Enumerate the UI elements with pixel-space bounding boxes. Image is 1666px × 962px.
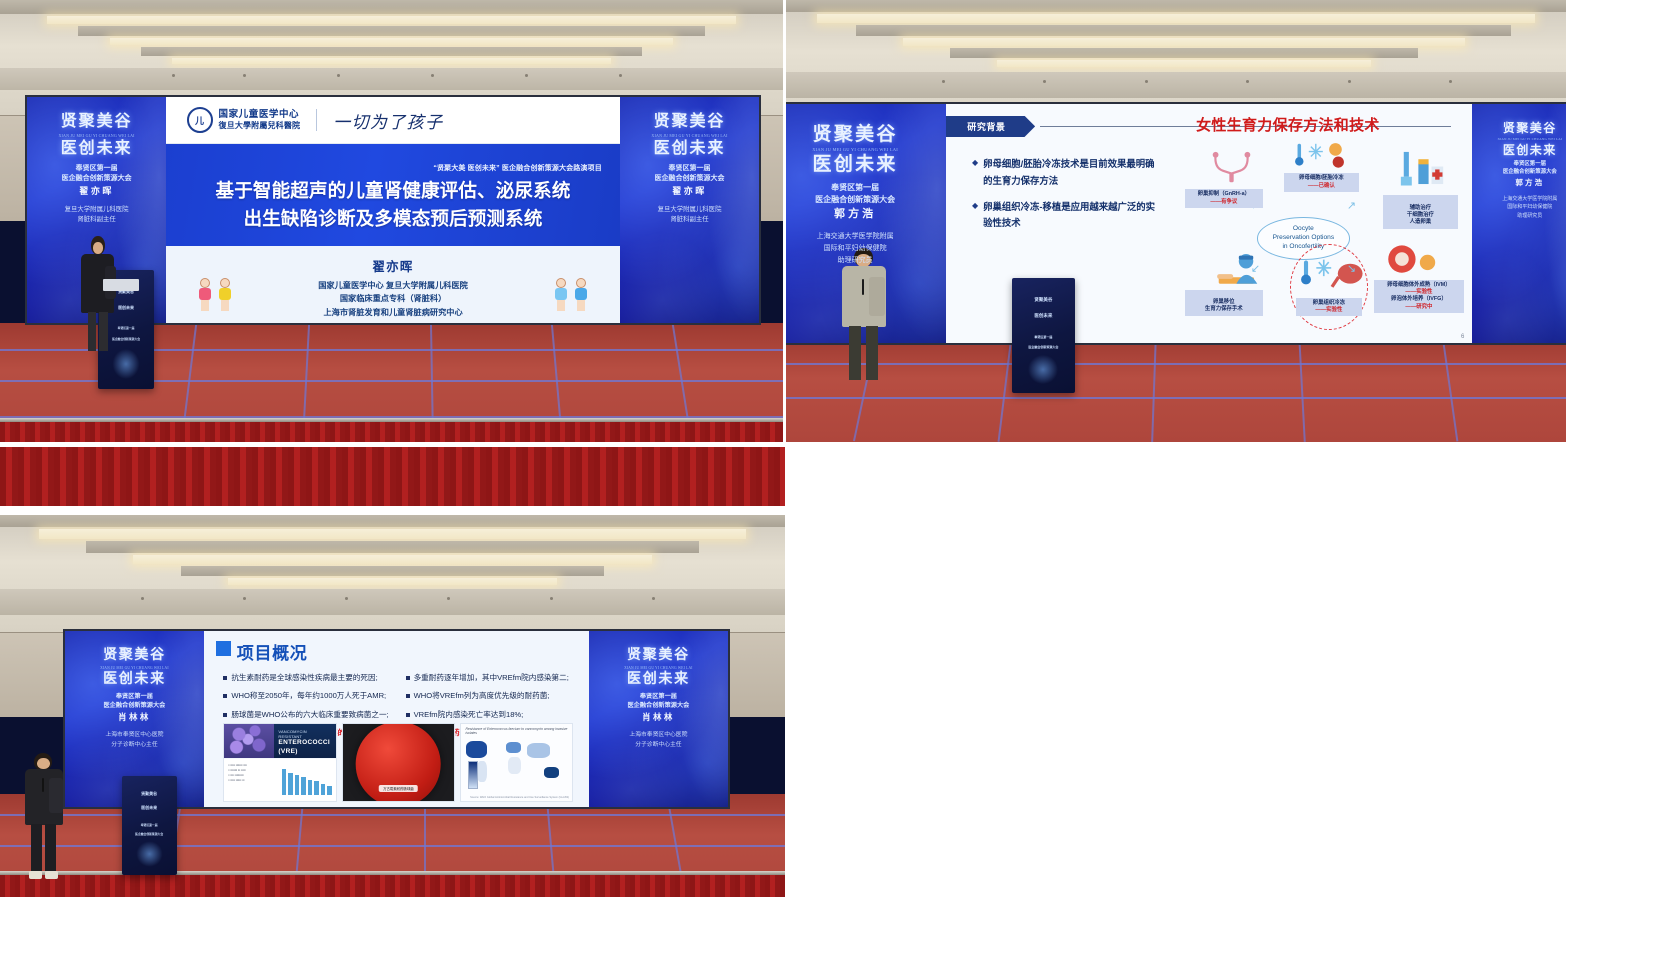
speaker-org-2a: 上海交通大学医学院附属 bbox=[786, 231, 946, 243]
speaker-name-2: 郭方浩 bbox=[786, 205, 946, 221]
laptop-1 bbox=[103, 279, 139, 290]
assisted-therapy-icon bbox=[1389, 149, 1455, 189]
agar-plate-caption: 万古霉素耐药肠球菌 bbox=[379, 785, 418, 792]
node-label-5: 卵母细胞体外成熟（IVM） ——实验性 卵泡体外培养（IVFG） ——研究中 bbox=[1374, 280, 1464, 313]
banner-small-text: VANCOMYCIN RESISTANT bbox=[278, 729, 331, 739]
event-subtitle-2-p2: 医企融合创新策源大会 bbox=[786, 194, 946, 206]
event-subtitle-1-right: 奉贤区第一届 bbox=[620, 163, 759, 173]
speaker-title-1-right: 肾脏科副主任 bbox=[620, 215, 759, 226]
logo-line-1: 国家儿童医学中心 bbox=[219, 109, 301, 121]
list-item: 肠球菌是WHO公布的六大临床重要致病菌之一; bbox=[223, 709, 395, 720]
node-label-4: 卵巢组织冷冻 ——实验性 bbox=[1296, 298, 1362, 317]
square-bullet-icon bbox=[406, 713, 410, 717]
world-map bbox=[464, 735, 569, 791]
ceiling-3 bbox=[0, 515, 785, 632]
diamond-bullet-icon: ◆ bbox=[972, 199, 978, 232]
speaker-name-3: 肖林林 bbox=[65, 711, 204, 723]
brand-line-2-p3r: 医创未来 bbox=[589, 673, 728, 688]
event-subtitle-1-p3: 奉贤区第一届 bbox=[65, 693, 204, 702]
speaker-name-3-right: 肖林林 bbox=[589, 711, 728, 723]
highlight-ring bbox=[1290, 244, 1368, 330]
node-label-1: 卵母细胞/胚胎冷冻 ——已确认 bbox=[1284, 173, 1359, 192]
brand-pinyin-p3r: XIAN JU MEI GU YI CHUANG WEI LAI bbox=[589, 666, 728, 670]
ivm-icon bbox=[1383, 242, 1443, 276]
event-subtitle-1: 奉贤区第一届 bbox=[27, 163, 166, 173]
hospital-slogan: 一切为了孩子 bbox=[333, 108, 443, 133]
event-subtitle-2-p2r: 医企融合创新策源大会 bbox=[1472, 169, 1566, 177]
slide-1-affiliation-1: 国家儿童医学中心 复旦大学附属儿科医院 bbox=[166, 279, 620, 292]
slide-3-title: 项目概况 bbox=[237, 639, 308, 664]
speaker-org-1-right: 复旦大学附属儿科医院 bbox=[620, 205, 759, 216]
brand-pinyin-right: XIAN JU MEI GU YI CHUANG WEI LAI bbox=[620, 133, 759, 138]
brand-pinyin: XIAN JU MEI GU YI CHUANG WEI LAI bbox=[27, 133, 166, 138]
event-subtitle-2-p3r: 医企融合创新策源大会 bbox=[589, 702, 728, 711]
brand-line-2-right: 医创未来 bbox=[620, 141, 759, 158]
square-bullet-icon bbox=[223, 713, 227, 717]
fact-sheet-body-text: ▪ ▪▪▪▪ ▪▪▪▪▪▪ ▪▪▪▪ ▪▪▪▪▪▪ ▪▪ ▪▪▪▪▪ ▪▪▪ ▪… bbox=[224, 759, 277, 801]
speaker-org-3: 上海市奉贤区中心医院 bbox=[65, 731, 204, 741]
speaker-title-3-right: 分子诊断中心主任 bbox=[589, 741, 728, 751]
uterus-icon bbox=[1206, 149, 1257, 185]
podium-sub-1-p2: 奉贤区第一届 bbox=[1012, 335, 1074, 339]
list-item: 多重耐药逐年增加，其中VREfm院内感染第二; bbox=[406, 672, 578, 683]
bullet-text: 卵母细胞/胚胎冷冻技术是目前效果最明确的生育力保存方法 bbox=[983, 156, 1161, 189]
podium-sub-1-p3: 奉贤区第一届 bbox=[122, 824, 177, 828]
bullet-text: 多重耐药逐年增加，其中VREfm院内感染第二; bbox=[414, 672, 569, 683]
microphone-icon-3 bbox=[42, 778, 45, 792]
figure-agar-plate: 万古霉素耐药肠球菌 bbox=[342, 723, 455, 802]
list-item: WHO称至2050年，每年约1000万人死于AMR; bbox=[223, 690, 395, 701]
podium-brand-2-p3: 医创未来 bbox=[122, 805, 177, 811]
brand-line-2: 医创未来 bbox=[27, 141, 166, 158]
podium-brand-1-p2: 贤聚美谷 bbox=[1012, 297, 1074, 303]
photo-presentation-pediatric-kidney: 贤聚美谷 XIAN JU MEI GU YI CHUANG WEI LAI 医创… bbox=[0, 0, 783, 442]
side-banner-right-1: 贤聚美谷 XIAN JU MEI GU YI CHUANG WEI LAI 医创… bbox=[620, 97, 759, 323]
event-subtitle-1-p2r: 奉贤区第一届 bbox=[1472, 161, 1566, 169]
bullet-text: 卵巢组织冷冻-移植是应用越来越广泛的实验性技术 bbox=[983, 199, 1161, 232]
square-bullet-icon bbox=[406, 694, 410, 698]
brand-pinyin-p2: XIAN JU MEI GU YI CHUANG WEI LAI bbox=[786, 147, 946, 152]
event-subtitle-2: 医企融合创新策源大会 bbox=[27, 173, 166, 183]
slide-2-title: 女性生育力保存方法和技术 bbox=[1125, 114, 1451, 135]
photo-presentation-vre-project-overview: 贤聚美谷 XIAN JU MEI GU YI CHUANG WEI LAI 医创… bbox=[0, 447, 785, 897]
map-legend bbox=[468, 761, 478, 789]
slide-1-title-line-2: 出生缺陷诊断及多模态预后预测系统 bbox=[184, 206, 602, 232]
speaker-org-2b-right: 国际和平妇幼保健院 bbox=[1472, 204, 1566, 213]
arrow-icon: ↙ bbox=[1251, 262, 1260, 275]
slide-2-section-tag: 研究背景 bbox=[946, 116, 1036, 138]
photo-gap bbox=[0, 506, 785, 515]
side-banner-right-2: 贤聚美谷 XIAN JU MEI GU YI CHUANG WEI LAI 医创… bbox=[1472, 104, 1566, 343]
event-subtitle-1-p3r: 奉贤区第一届 bbox=[589, 693, 728, 702]
speaker-org-3-right: 上海市奉贤区中心医院 bbox=[589, 731, 728, 741]
list-item: ◆ 卵母细胞/胚胎冷冻技术是目前效果最明确的生育力保存方法 bbox=[972, 156, 1162, 189]
speaker-title-3: 分子诊断中心主任 bbox=[65, 741, 204, 751]
brand-line-1-p3r: 贤聚美谷 bbox=[589, 649, 728, 664]
kid-illustration-right-icon bbox=[554, 272, 588, 312]
slide-1-footer: 翟亦晖 国家儿童医学中心 复旦大学附属儿科医院 国家临床重点专科（肾脏科） 上海… bbox=[166, 246, 620, 323]
speaker-title-2-right: 助理研究员 bbox=[1472, 213, 1566, 222]
speaker-name-1: 翟亦晖 bbox=[27, 184, 166, 197]
photo-collage: 贤聚美谷 XIAN JU MEI GU YI CHUANG WEI LAI 医创… bbox=[0, 0, 1666, 962]
conference-hall-scene-2: 贤聚美谷 XIAN JU MEI GU YI CHUANG WEI LAI 医创… bbox=[786, 0, 1566, 442]
slide-3: 项目概况 抗生素耐药是全球感染性疾病最主要的死因; WHO称至2050年，每年约… bbox=[204, 631, 589, 807]
empty-grid-cell bbox=[786, 447, 1666, 962]
arrow-icon: ↗ bbox=[1347, 199, 1356, 212]
brand-pinyin-p2r: XIAN JU MEI GU YI CHUANG WEI LAI bbox=[1472, 137, 1566, 141]
speaker-person-2 bbox=[841, 248, 888, 381]
node-label-2: 辅助治疗 干细胞治疗 人造卵巢 bbox=[1383, 195, 1458, 228]
podium-sub-2-p3: 医企融合创新策源大会 bbox=[122, 833, 177, 837]
speaker-person-3 bbox=[22, 753, 65, 879]
logo-line-2: 復旦大學附屬兒科醫院 bbox=[219, 121, 301, 131]
brand-line-2-p2: 医创未来 bbox=[786, 155, 946, 175]
arrow-icon: ↘ bbox=[1347, 262, 1356, 275]
slide-1-affiliation-2: 国家临床重点专科（肾脏科） bbox=[166, 292, 620, 305]
podium-2: 贤聚美谷 医创未来 奉贤区第一届 医企融合创新策源大会 bbox=[1012, 278, 1074, 393]
center-line-1: Oocyte bbox=[1273, 225, 1335, 234]
stage-floor-2 bbox=[786, 336, 1566, 442]
square-bullet-icon bbox=[223, 676, 227, 680]
speaker-org-1: 复旦大学附属儿科医院 bbox=[27, 205, 166, 216]
bullet-text: 抗生素耐药是全球感染性疾病最主要的死因; bbox=[231, 672, 377, 683]
brand-line-1-p2: 贤聚美谷 bbox=[786, 125, 946, 145]
hospital-logo-icon: 儿 bbox=[187, 107, 213, 133]
stage-skirt-top bbox=[0, 447, 785, 506]
list-item: ◆ 卵巢组织冷冻-移植是应用越来越广泛的实验性技术 bbox=[972, 199, 1162, 232]
podium-brand-2-p2: 医创未来 bbox=[1012, 313, 1074, 319]
event-subtitle-2-right: 医企融合创新策源大会 bbox=[620, 173, 759, 183]
banner-large-text: ENTEROCOCCI (VRE) bbox=[278, 739, 331, 756]
speaker-person-1 bbox=[78, 236, 117, 351]
podium-brand-1-p3: 贤聚美谷 bbox=[122, 791, 177, 797]
square-bullet-icon bbox=[406, 676, 410, 680]
title-marker-icon bbox=[216, 641, 231, 656]
slide-3-figure-row: VANCOMYCIN RESISTANT ENTEROCOCCI (VRE) ▪… bbox=[223, 723, 573, 802]
surgery-icon bbox=[1209, 250, 1275, 290]
bullet-text: 肠球菌是WHO公布的六大临床重要致病菌之一; bbox=[231, 709, 388, 720]
event-subtitle-1-p2: 奉贤区第一届 bbox=[786, 182, 946, 194]
diamond-bullet-icon: ◆ bbox=[972, 156, 978, 189]
slide-1-title-line-1: 基于智能超声的儿童肾健康评估、泌尿系统 bbox=[184, 178, 602, 204]
node-label-3: 卵巢移位 生育力保存手术 bbox=[1185, 290, 1263, 316]
side-banner-right-3: 贤聚美谷 XIAN JU MEI GU YI CHUANG WEI LAI 医创… bbox=[589, 631, 728, 807]
photo-presentation-fertility-preservation: 贤聚美谷 XIAN JU MEI GU YI CHUANG WEI LAI 医创… bbox=[786, 0, 1566, 442]
list-item: 抗生素耐药是全球感染性疾病最主要的死因; bbox=[223, 672, 395, 683]
event-subtitle-2-p3: 医企融合创新策源大会 bbox=[65, 702, 204, 711]
speaker-name-2-right: 郭方浩 bbox=[1472, 177, 1566, 188]
map-source: Source: WHO Global Antimicrobial Resista… bbox=[470, 796, 569, 799]
figure-world-map: Resistance of Enterococcus faecium to va… bbox=[460, 723, 573, 802]
podium-3: 贤聚美谷 医创未来 奉贤区第一届 医企融合创新策源大会 bbox=[122, 776, 177, 875]
speaker-name-1-right: 翟亦晖 bbox=[620, 184, 759, 197]
slide-2-page-number: 6 bbox=[1461, 334, 1464, 340]
cryopreservation-icon bbox=[1287, 141, 1353, 169]
center-line-2: Preservation Options bbox=[1273, 234, 1335, 243]
brand-pinyin-p3: XIAN JU MEI GU YI CHUANG WEI LAI bbox=[65, 666, 204, 670]
speaker-title-2: 助理研究员 bbox=[786, 255, 946, 267]
square-bullet-icon bbox=[223, 694, 227, 698]
speaker-title-1: 肾脏科副主任 bbox=[27, 215, 166, 226]
slide-1-presenter: 翟亦晖 bbox=[166, 256, 620, 275]
conference-hall-scene-3: 贤聚美谷 XIAN JU MEI GU YI CHUANG WEI LAI 医创… bbox=[0, 447, 785, 897]
slide-1-header: 儿 国家儿童医学中心 復旦大學附屬兒科醫院 一切为了孩子 bbox=[166, 97, 620, 144]
podium-sub-2-p2: 医企融合创新策源大会 bbox=[1012, 345, 1074, 349]
bullet-text: WHO将VREfm列为高度优先级的耐药菌; bbox=[414, 690, 550, 701]
fact-sheet-banner: VANCOMYCIN RESISTANT ENTEROCOCCI (VRE) bbox=[274, 724, 335, 758]
brand-line-2-p3: 医创未来 bbox=[65, 673, 204, 688]
slide-1-affiliation-3: 上海市肾脏发育和儿童肾脏病研究中心 bbox=[166, 306, 620, 319]
brand-line-1-p2r: 贤聚美谷 bbox=[1472, 122, 1566, 135]
speaker-org-2a-right: 上海交通大学医学院附属 bbox=[1472, 196, 1566, 205]
logo-divider bbox=[316, 109, 317, 131]
brand-line-1: 贤聚美谷 bbox=[27, 114, 166, 131]
bullet-text: VREfm院内感染死亡率达到18%; bbox=[414, 709, 524, 720]
oncofertility-diagram: Oocyte Preservation Options in Oncoferti… bbox=[1167, 137, 1467, 338]
slide-1-eyebrow: “贤聚大美 医创未来” 医企融合创新策源大会路演项目 bbox=[184, 163, 602, 173]
brand-line-2-p2r: 医创未来 bbox=[1472, 144, 1566, 157]
list-item: VREfm院内感染死亡率达到18%; bbox=[406, 709, 578, 720]
led-screen-wall-2: 贤聚美谷 XIAN JU MEI GU YI CHUANG WEI LAI 医创… bbox=[786, 102, 1566, 345]
conference-hall-scene-1: 贤聚美谷 XIAN JU MEI GU YI CHUANG WEI LAI 医创… bbox=[0, 0, 783, 442]
speaker-org-2b: 国际和平妇幼保健院 bbox=[786, 243, 946, 255]
brand-line-1-right: 贤聚美谷 bbox=[620, 114, 759, 131]
slide-1: 儿 国家儿童医学中心 復旦大學附屬兒科醫院 一切为了孩子 “贤聚大美 医创未来”… bbox=[166, 97, 620, 323]
bullet-text: WHO称至2050年，每年约1000万人死于AMR; bbox=[231, 690, 386, 701]
node-label-0: 卵巢抑制（GnRH-a） ——有争议 bbox=[1185, 189, 1263, 208]
fact-sheet-bar-chart bbox=[278, 759, 336, 801]
figure-vre-fact-sheet: VANCOMYCIN RESISTANT ENTEROCOCCI (VRE) ▪… bbox=[223, 723, 336, 802]
list-item: WHO将VREfm列为高度优先级的耐药菌; bbox=[406, 690, 578, 701]
slide-2-bullet-list: ◆ 卵母细胞/胚胎冷冻技术是目前效果最明确的生育力保存方法 ◆ 卵巢组织冷冻-移… bbox=[972, 156, 1162, 241]
kid-illustration-left-icon bbox=[198, 272, 232, 312]
bacteria-micrograph bbox=[224, 724, 274, 758]
slide-1-title-band: “贤聚大美 医创未来” 医企融合创新策源大会路演项目 基于智能超声的儿童肾健康评… bbox=[166, 144, 620, 246]
brand-line-1-p3: 贤聚美谷 bbox=[65, 649, 204, 664]
